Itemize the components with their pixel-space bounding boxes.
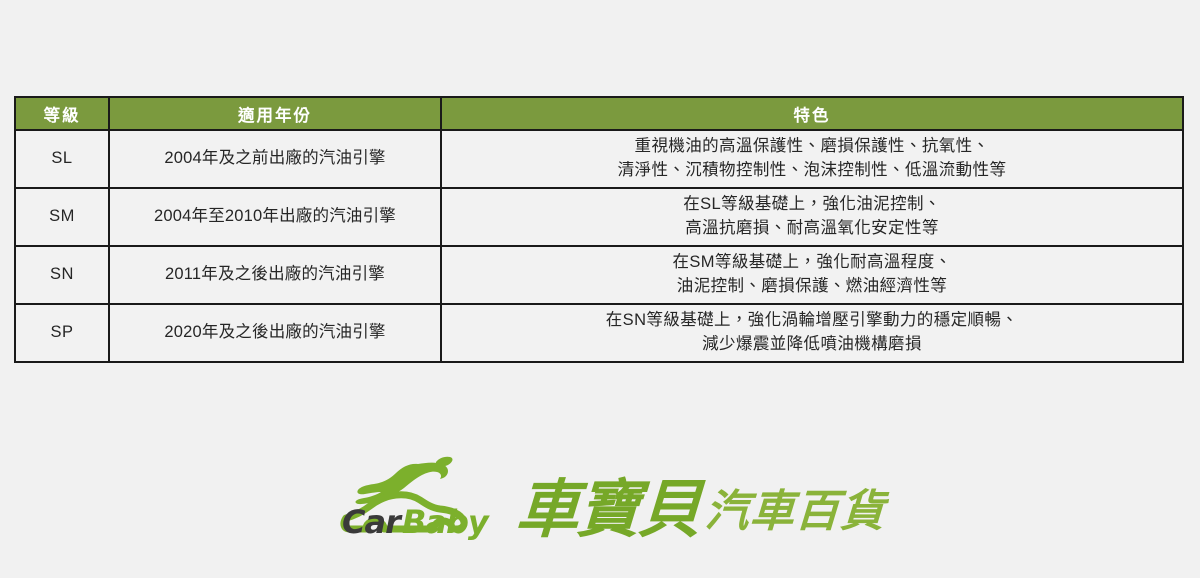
- rabbit-ear: [436, 457, 452, 467]
- cell-years: 2020年及之後出廠的汽油引擎: [109, 304, 441, 362]
- table-row: SP 2020年及之後出廠的汽油引擎 在SN等級基礎上，強化渦輪增壓引擎動力的穩…: [15, 304, 1183, 362]
- wordmark-car: Car: [342, 503, 403, 541]
- feature-line: 減少爆震並降低噴油機構磨損: [448, 333, 1176, 357]
- api-grade-table: 等級 適用年份 特色 SL 2004年及之前出廠的汽油引擎 重視機油的高溫保護性…: [14, 96, 1184, 363]
- table-row: SN 2011年及之後出廠的汽油引擎 在SM等級基礎上，強化耐高溫程度、 油泥控…: [15, 246, 1183, 304]
- feature-line: 在SL等級基礎上，強化油泥控制、: [448, 193, 1176, 217]
- cell-years: 2004年至2010年出廠的汽油引擎: [109, 188, 441, 246]
- cell-features: 重視機油的高溫保護性、磨損保護性、抗氧性、 清淨性、沉積物控制性、泡沫控制性、低…: [441, 130, 1183, 188]
- cell-features: 在SL等級基礎上，強化油泥控制、 高溫抗磨損、耐高溫氧化安定性等: [441, 188, 1183, 246]
- feature-line: 在SN等級基礎上，強化渦輪增壓引擎動力的穩定順暢、: [448, 309, 1176, 333]
- table-body: SL 2004年及之前出廠的汽油引擎 重視機油的高溫保護性、磨損保護性、抗氧性、…: [15, 130, 1183, 362]
- feature-line: 清淨性、沉積物控制性、泡沫控制性、低溫流動性等: [448, 159, 1176, 183]
- feature-line: 重視機油的高溫保護性、磨損保護性、抗氧性、: [448, 135, 1176, 159]
- rabbit-over-car-icon: Car Baby: [340, 456, 508, 544]
- wordmark-baby: Baby: [402, 503, 490, 541]
- cell-grade: SN: [15, 246, 109, 304]
- cell-years: 2011年及之後出廠的汽油引擎: [109, 246, 441, 304]
- feature-line: 油泥控制、磨損保護、燃油經濟性等: [448, 275, 1176, 299]
- carbaby-logo: Car Baby 車寶貝 汽車百貨: [340, 452, 865, 544]
- table-header-row: 等級 適用年份 特色: [15, 97, 1183, 130]
- feature-line: 高溫抗磨損、耐高溫氧化安定性等: [448, 217, 1176, 241]
- table-row: SL 2004年及之前出廠的汽油引擎 重視機油的高溫保護性、磨損保護性、抗氧性、…: [15, 130, 1183, 188]
- cell-grade: SM: [15, 188, 109, 246]
- column-header-grade: 等級: [15, 97, 109, 130]
- feature-line: 在SM等級基礎上，強化耐高溫程度、: [448, 251, 1176, 275]
- cell-features: 在SM等級基礎上，強化耐高溫程度、 油泥控制、磨損保護、燃油經濟性等: [441, 246, 1183, 304]
- cell-years: 2004年及之前出廠的汽油引擎: [109, 130, 441, 188]
- cell-features: 在SN等級基礎上，強化渦輪增壓引擎動力的穩定順暢、 減少爆震並降低噴油機構磨損: [441, 304, 1183, 362]
- carbaby-wordmark: Car Baby: [340, 502, 508, 542]
- cell-grade: SP: [15, 304, 109, 362]
- column-header-years: 適用年份: [109, 97, 441, 130]
- grade-table-container: 等級 適用年份 特色 SL 2004年及之前出廠的汽油引擎 重視機油的高溫保護性…: [14, 96, 1182, 363]
- table-row: SM 2004年至2010年出廠的汽油引擎 在SL等級基礎上，強化油泥控制、 高…: [15, 188, 1183, 246]
- brand-chinese-text: 車寶貝 汽車百貨: [516, 480, 885, 544]
- column-header-features: 特色: [441, 97, 1183, 130]
- table-header: 等級 適用年份 特色: [15, 97, 1183, 130]
- brand-name-cn: 車寶貝: [514, 480, 700, 540]
- cell-grade: SL: [15, 130, 109, 188]
- brand-tagline-cn: 汽車百貨: [704, 490, 887, 540]
